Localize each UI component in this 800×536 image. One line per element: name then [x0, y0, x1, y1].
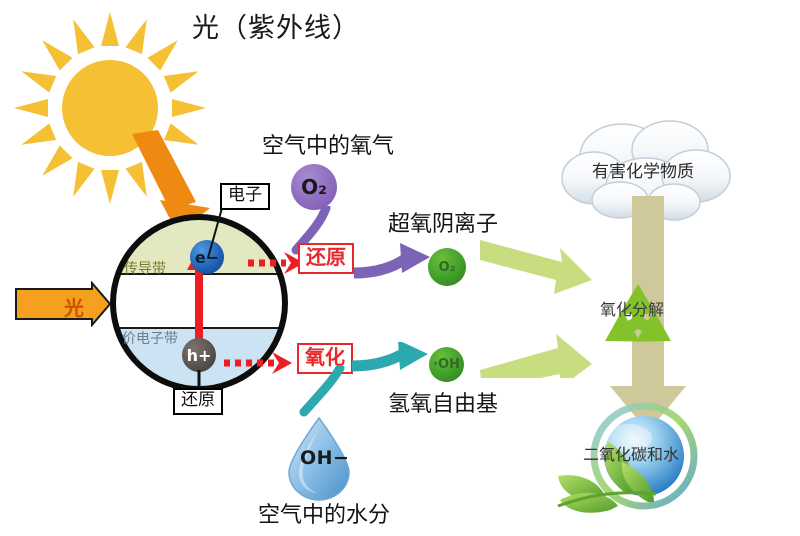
superoxide-molecule-symbol: O₂ [428, 248, 466, 286]
oxygen-molecule-icon: O₂ [291, 164, 337, 210]
oxidation-dotted-arrow-icon [222, 350, 294, 376]
hydroxyl-radical-label: 氢氧自由基 [388, 386, 498, 418]
page-title: 光（紫外线） [192, 6, 360, 45]
superoxide-molecule-icon: O₂ [428, 248, 466, 286]
oxygen-molecule-symbol: O₂ [291, 164, 337, 210]
hydroxyl-molecule-symbol: ·OH [429, 347, 464, 382]
air-water-label: 空气中的水分 [258, 497, 390, 529]
reduction-curved-arrow-icon [352, 243, 438, 291]
superoxide-label: 超氧阴离子 [388, 206, 498, 238]
oxidation-curved-arrow-icon [350, 342, 436, 386]
water-molecule-symbol: OH− [300, 447, 349, 469]
decomposition-arrows-icon [480, 238, 610, 378]
hydroxyl-molecule-icon: ·OH [429, 347, 464, 382]
reduction-callout-box: 还原 [173, 388, 223, 415]
reduction-label-box: 还原 [298, 243, 354, 274]
water-feed-stroke [294, 366, 350, 418]
air-oxygen-label: 空气中的氧气 [262, 128, 394, 160]
result-label: 二氧化碳和水 [583, 441, 679, 465]
light-arrow-label: 光 [64, 292, 84, 321]
oxidative-decomposition-label: 氧化分解 [600, 296, 664, 320]
photocatalysis-diagram: 光（紫外线） [0, 0, 800, 536]
electron-callout-box: 电子 [220, 183, 270, 210]
harmful-substances-label: 有害化学物质 [592, 157, 694, 182]
recycle-icon [592, 282, 684, 360]
